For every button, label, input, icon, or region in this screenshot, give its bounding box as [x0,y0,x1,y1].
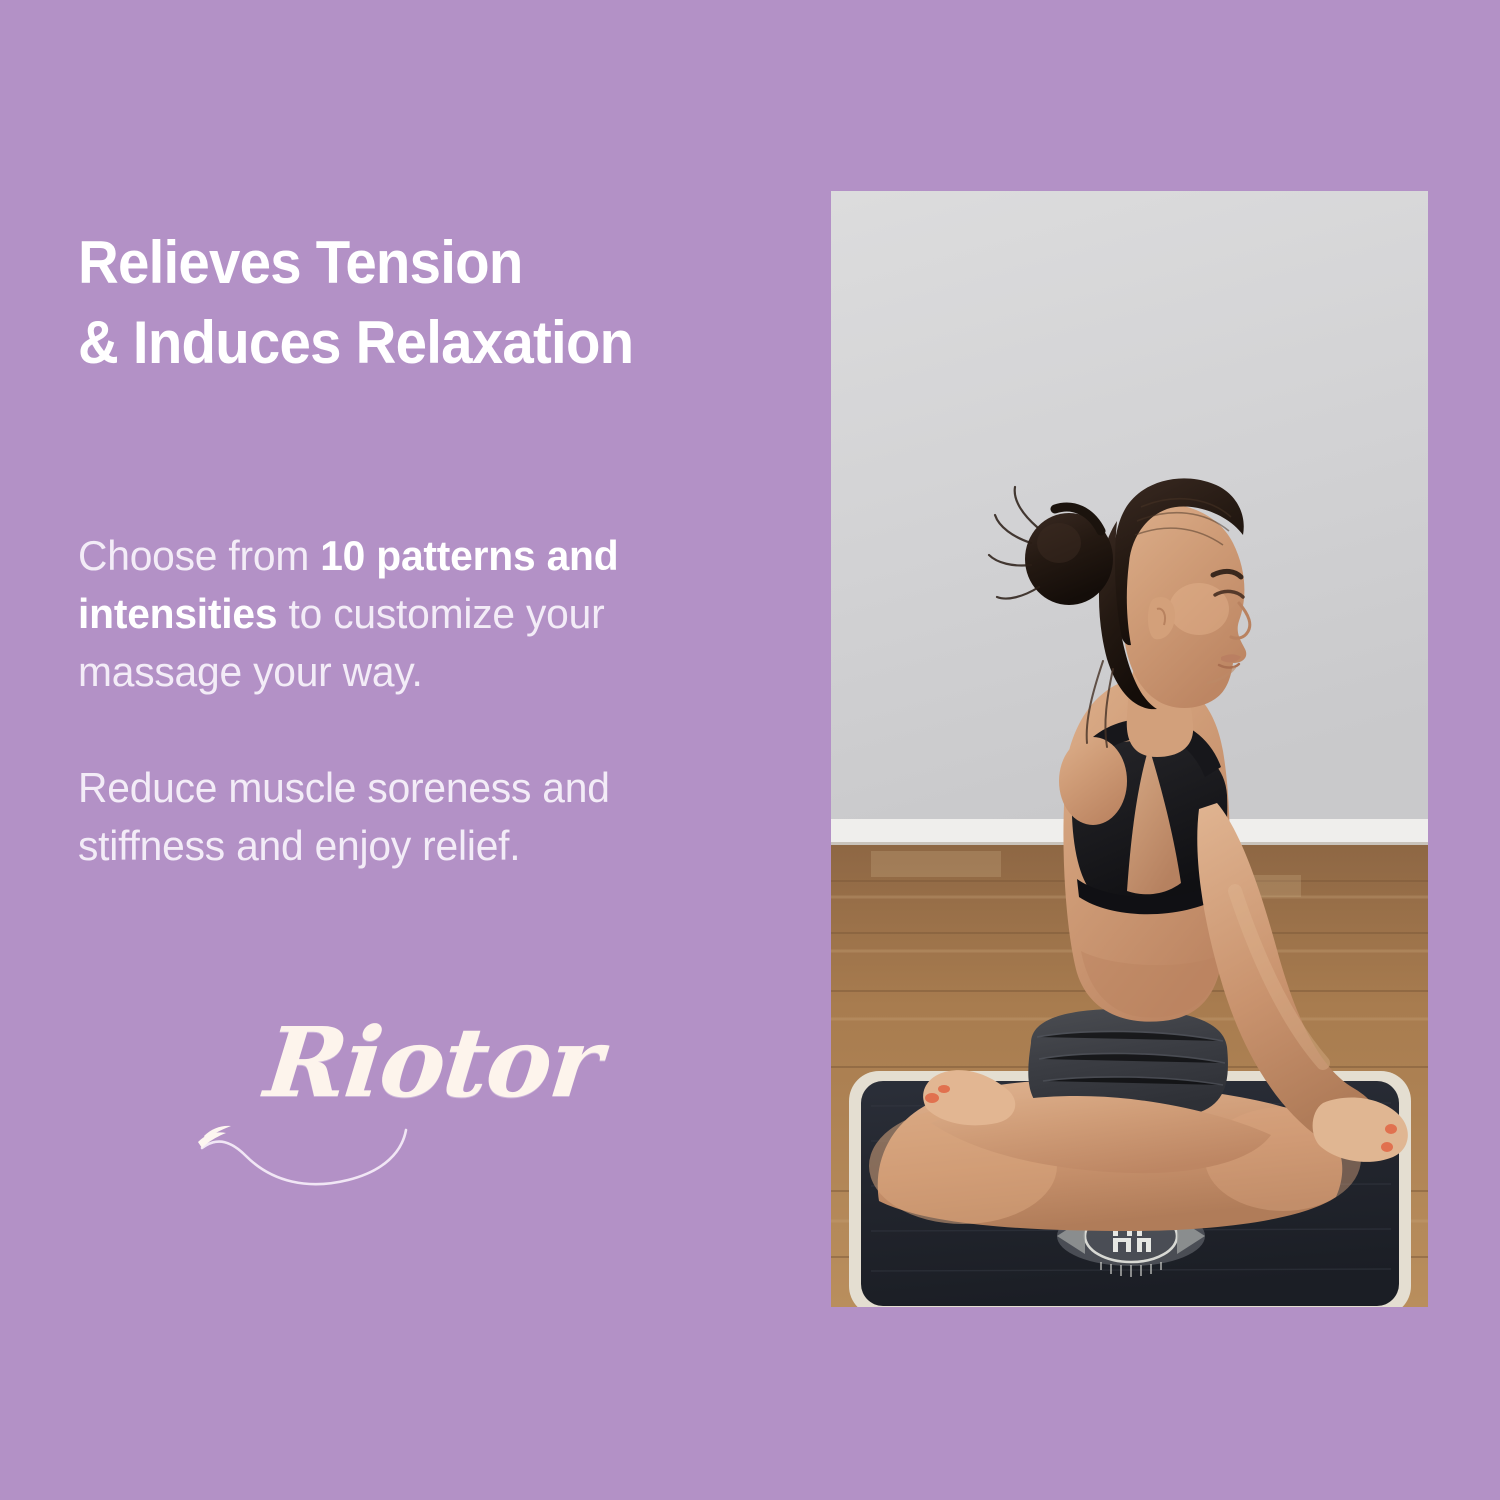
page-title: Relieves Tension & Induces Relaxation [78,223,774,383]
feature-paragraph-relief: Reduce muscle soreness and stiffness and… [78,759,738,875]
promo-banner: Relieves Tension & Induces Relaxation Ch… [0,0,1500,1500]
copy-column: Relieves Tension & Induces Relaxation Ch… [78,0,798,1500]
product-lifestyle-photo [831,191,1428,1307]
paragraph1-before: Choose from [78,532,320,579]
feature-paragraph-patterns: Choose from 10 patterns and intensities … [78,527,738,701]
paragraph2-text: Reduce muscle soreness and stiffness and… [78,764,610,869]
meditating-woman-illustration [831,191,1428,1307]
brand-name: Riotor [260,1008,605,1118]
brand-logo: Riotor [188,1008,618,1208]
brand-flourish-icon [188,1116,448,1196]
